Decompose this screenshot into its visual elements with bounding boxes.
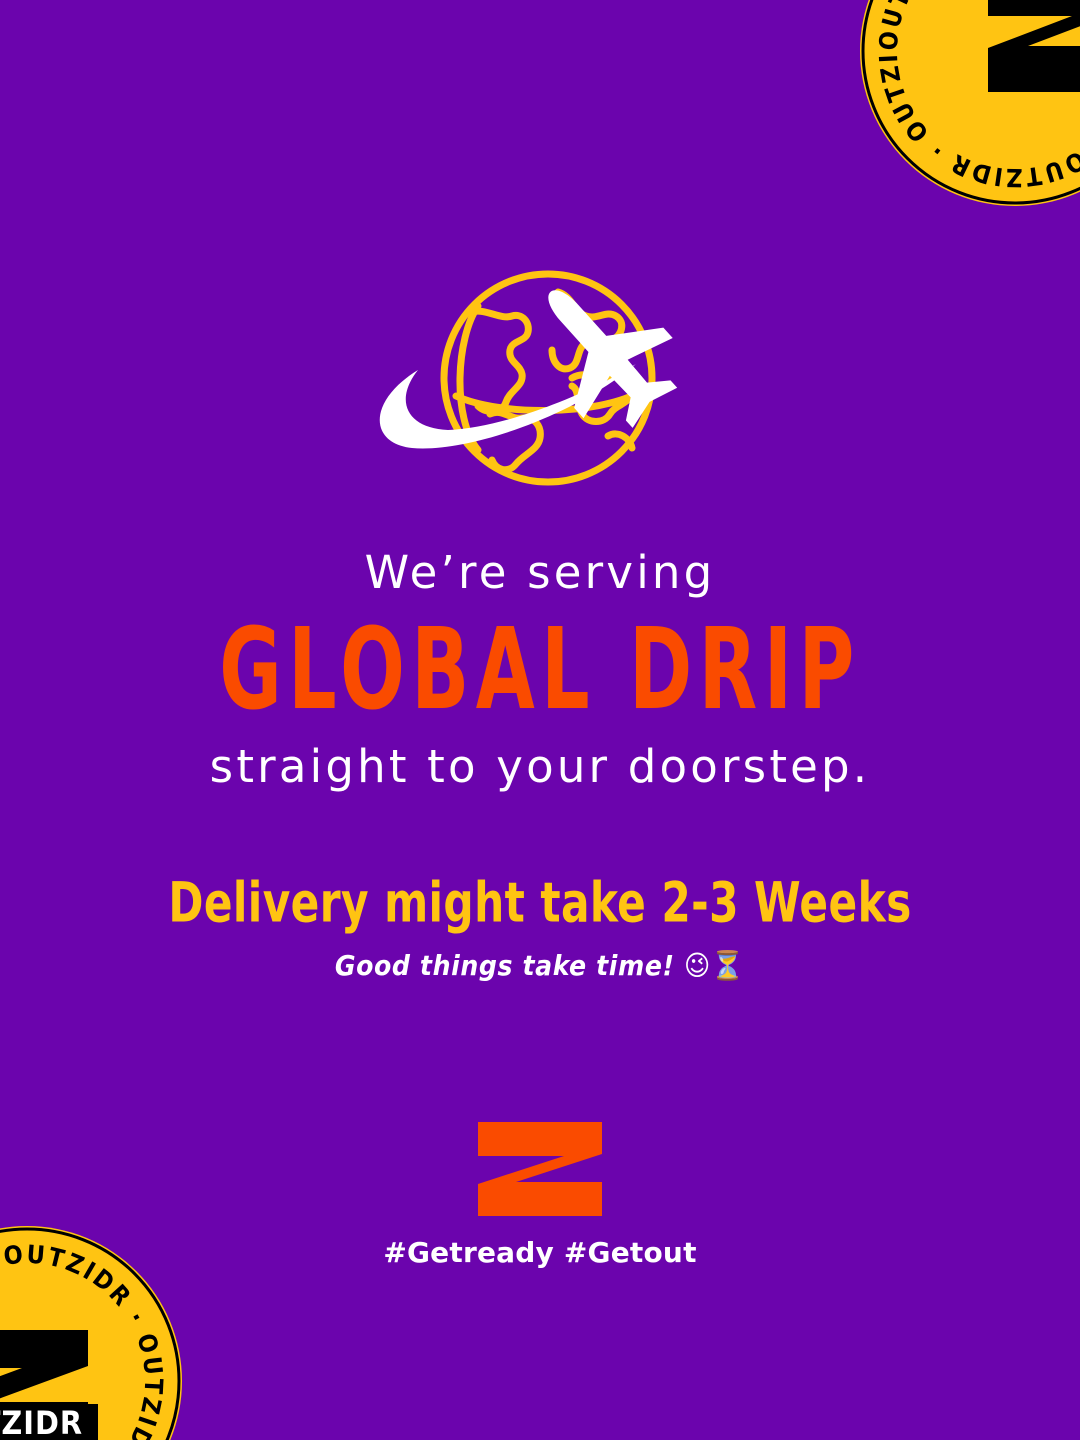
badge-wordmark-text: OUTZIDR — [0, 1404, 83, 1440]
poster-canvas: OUTZIDR · OUTZIDR · OUTZIDR · OUTZIDR · … — [0, 0, 1080, 1440]
copy-block: We’re serving GLOBAL DRIP straight to yo… — [0, 548, 1080, 981]
wink-hourglass-emoji: 😉⏳ — [684, 949, 745, 982]
subline-text: straight to your doorstep. — [0, 742, 1080, 792]
badge-top-right: OUTZIDR · OUTZIDR · OUTZIDR · OUTZIDR · … — [860, 0, 1080, 206]
page-title: GLOBAL DRIP — [43, 614, 1037, 726]
reassurance-line: Good things take time! 😉⏳ — [0, 951, 1080, 982]
z-logo-icon — [478, 1122, 602, 1216]
badge-bottom-left: OUTZIDR · OUTZIDR · OUTZIDR · OUTZIDR · … — [0, 1226, 182, 1440]
hero-illustration — [0, 268, 1080, 508]
eyebrow-text: We’re serving — [0, 548, 1080, 598]
badge-wordmark: OUTZIDR — [0, 1404, 98, 1440]
delivery-notice: Delivery might take 2-3 Weeks — [0, 873, 1080, 934]
z-logo-icon — [988, 0, 1080, 92]
reassurance-text: Good things take time! — [335, 949, 675, 982]
